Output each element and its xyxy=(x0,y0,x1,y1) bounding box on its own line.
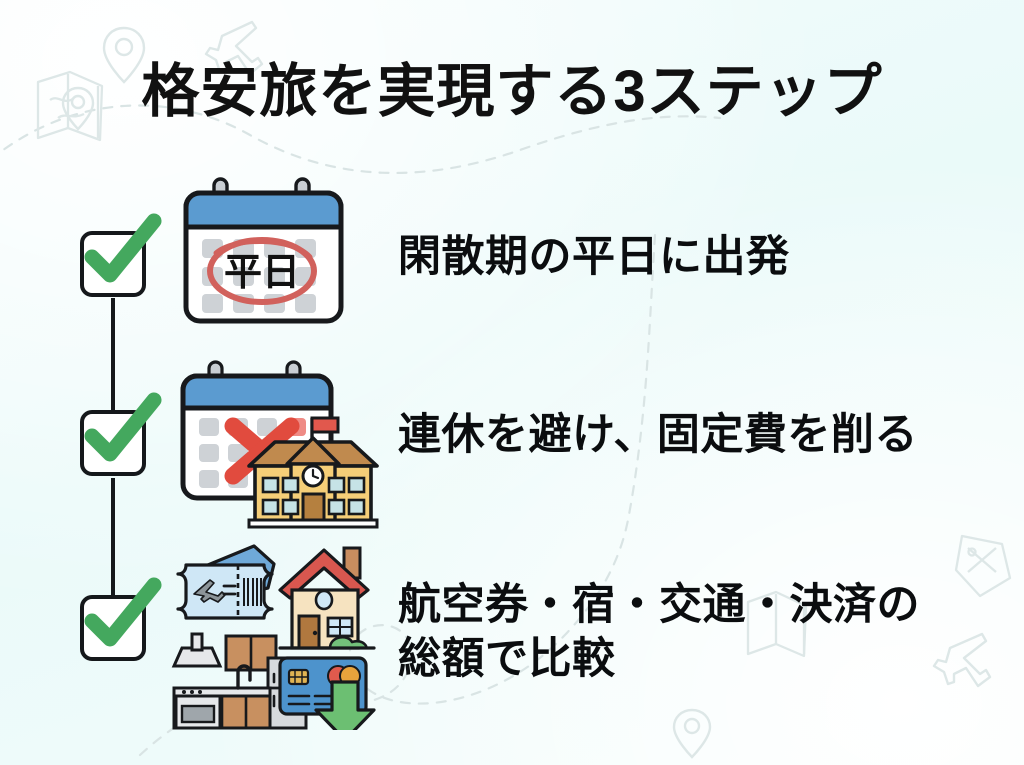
checkmark-icon xyxy=(78,213,164,299)
checkmark-icon xyxy=(78,392,164,478)
step-3-icons xyxy=(168,530,388,735)
step-2-checkbox[interactable] xyxy=(80,410,146,476)
step-3-text-line2: 総額で比較 xyxy=(398,635,616,683)
step-3-text: 航空券・宿・交通・決済の 総額で比較 xyxy=(398,578,958,686)
step-1-checkbox[interactable] xyxy=(80,231,146,297)
step-3-text-line1: 航空券・宿・交通・決済の xyxy=(398,581,920,629)
step-row-1: 平日 閑散期の平日に出発 xyxy=(0,175,1024,335)
step-1-icons: 平日 xyxy=(180,175,355,340)
step-row-3: 航空券・宿・交通・決済の 総額で比較 xyxy=(0,530,1024,735)
calendar-label: 平日 xyxy=(224,252,300,294)
cost-items-group xyxy=(168,530,388,730)
step-3-checkbox[interactable] xyxy=(80,595,146,661)
house-icon xyxy=(280,548,374,648)
flight-ticket-icon xyxy=(178,546,274,618)
step-row-2: 連休を避け、固定費を削る xyxy=(0,360,1024,530)
calendar-weekday-icon: 平日 xyxy=(180,175,355,335)
step-1-text: 閑散期の平日に出発 xyxy=(398,230,790,284)
page-title: 格安旅を実現する3ステップ xyxy=(0,58,1024,126)
slide-root: 格安旅を実現する3ステップ xyxy=(0,0,1024,765)
step-2-text: 連休を避け、固定費を削る xyxy=(398,408,918,462)
calendar-holiday-school-group xyxy=(175,360,390,530)
checkmark-icon xyxy=(78,577,164,663)
step-2-icons xyxy=(175,360,390,535)
